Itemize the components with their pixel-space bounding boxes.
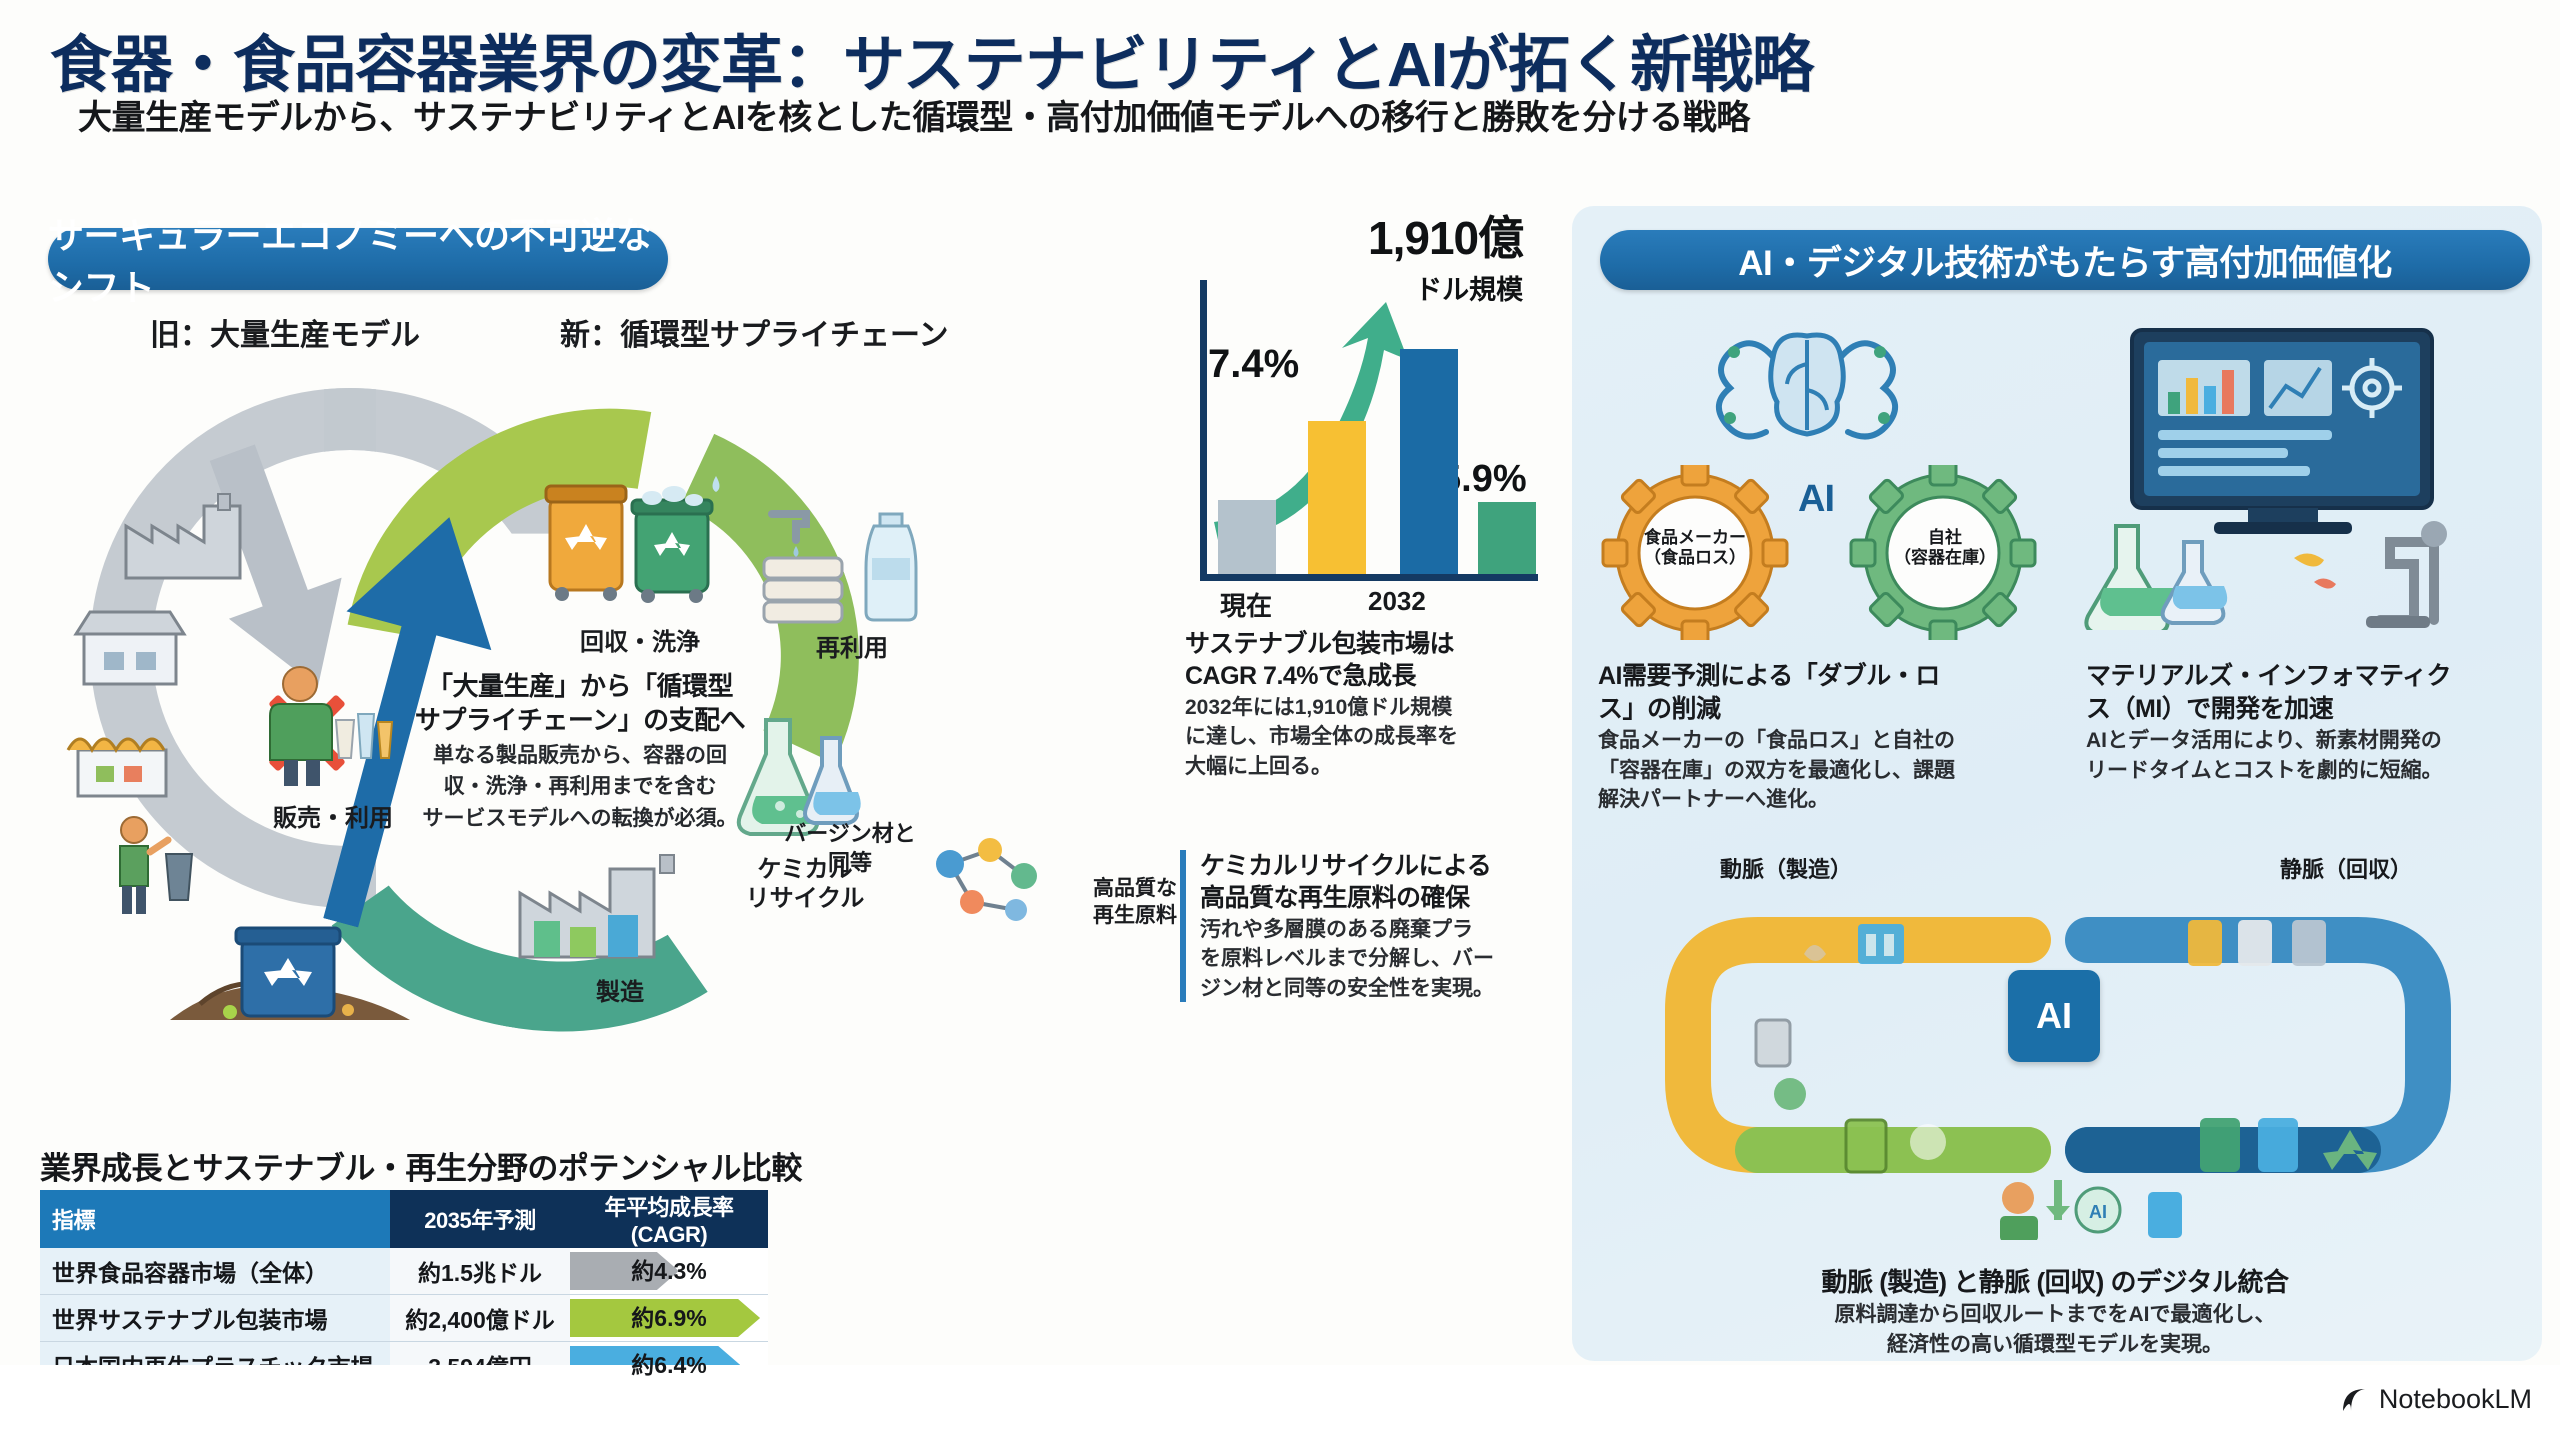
chem-caption-body-3: ジン材と同等の安全性を実現。 [1200,975,1546,1002]
gear-food-maker-line1: 食品メーカー [1644,528,1746,547]
chart-bar-0 [1218,500,1276,574]
ai-demand-forecast-block: AI需要予測による「ダブル・ロ ス」の削減 食品メーカーの「食品ロス」と自社の … [1598,660,2068,814]
notebooklm-logo-icon [2339,1385,2369,1415]
notebooklm-brand-label: NotebookLM [2379,1384,2532,1415]
table-cell-cagr: 約4.3% [570,1248,768,1295]
chem-caption-body-1: 汚れや多層膜のある廃棄プラ [1200,916,1546,943]
old-model-label: 旧：大量生産モデル [150,310,420,354]
cagr-value-label: 約6.9% [570,1295,768,1341]
ai-block-right-body-2: リードタイムとコストを劇的に短縮。 [2086,757,2536,785]
landfill-recycle-bin-icon [170,900,410,1030]
center-heading-line1: 「大量生産」から「循環型 [370,670,790,704]
ai-block-left-body-1: 食品メーカーの「食品ロス」と自社の [1598,727,2068,755]
gear-own-company-line1: 自社 [1928,528,1962,547]
chart-caption-body-3: 大幅に上回る。 [1185,753,1535,780]
chart-xtick-now: 現在 [1220,586,1272,623]
center-heading-line2: サプライチェーン」の支配へ [370,704,790,738]
ai-bottom-body-2: 経済性の高い循環型モデルを実現。 [1600,1331,2510,1359]
brain-ai-icon [1712,318,1902,468]
ai-chip-icon: AI [2008,970,2100,1062]
ai-block-right-heading-1: マテリアルズ・インフォマティク [2086,660,2536,693]
cycle-center-text: 「大量生産」から「循環型 サプライチェーン」の支配へ 単なる製品販売から、容器の… [370,670,790,833]
artery-vein-loop-diagram: AI [1608,880,2508,1245]
table-cell-metric: 世界サステナブル包装市場 [40,1295,390,1342]
recycle-bins-icon [540,468,730,618]
footer-bar: NotebookLM [0,1365,2560,1429]
quality-label-line1: 高品質な [1093,877,1177,900]
ai-chip-label: AI [2036,995,2072,1037]
materials-informatics-icon [2080,320,2500,630]
chart-caption-body-2: に達し、市場全体の成長率を [1185,723,1535,750]
chem-caption-heading-1: ケミカルリサイクルによる [1200,850,1546,882]
ai-bottom-heading: 動脈 (製造) と静脈 (回収) のデジタル統合 [1600,1262,2510,1299]
ai-block-left-body-3: 解決パートナーへ進化。 [1598,786,2068,814]
caption-chemical-recycle-line2: リサイクル [746,885,865,912]
chem-caption-heading-2: 高品質な再生原料の確保 [1200,882,1546,914]
ai-block-left-heading-2: ス」の削減 [1598,693,2068,726]
virgin-label-line2: 同等 [828,850,872,875]
ai-block-right-body-1: AIとデータ活用により、新素材開発の [2086,727,2536,755]
chart-headline: 1,910億 ドル規模 [1368,202,1523,307]
table-col-forecast: 2035年予測 [390,1190,570,1248]
gear-food-maker-line2: （食品ロス） [1644,548,1746,567]
green-factory-icon [510,845,710,965]
gear-own-company-line2: （容器在庫） [1894,548,1996,567]
infographic-canvas: 食器・食品容器業界の変革：サステナビリティとAIが拓く新戦略 大量生産モデルから… [0,0,2560,1429]
chart-annotation-cagr-sustainable: 7.4% [1208,342,1299,387]
chart-caption-body-1: 2032年には1,910億ドル規模 [1185,694,1535,721]
store-icon [70,600,190,690]
virgin-label-line1: バージン材と [784,821,916,846]
virgin-equivalent-label: バージン材と 同等 [740,820,960,877]
ai-bottom-body-1: 原料調達から回収ルートまでをAIで最適化し、 [1600,1301,2510,1329]
market-growth-bar-chart: 7.4% 5.9% 1,910億 ドル規模 現在 2032 [1178,280,1538,620]
table-cell-metric: 世界食品容器市場（全体） [40,1248,390,1295]
chemical-recycling-caption-block: ケミカルリサイクルによる 高品質な再生原料の確保 汚れや多層膜のある廃棄プラ を… [1180,850,1546,1002]
factory-icon [118,488,268,583]
chart-bar-2 [1400,349,1458,574]
chart-headline-unit: ドル規模 [1368,268,1523,307]
gear-label-own-company: 自社 （容器在庫） [1866,528,2024,569]
table-cell-forecast: 約2,400億ドル [390,1295,570,1342]
caption-reuse: 再利用 [782,628,922,663]
center-body-line2: 収・洗浄・再利用までを含む [370,774,790,801]
gear-label-food-maker: 食品メーカー （食品ロス） [1616,528,1774,569]
circular-economy-diagram: 旧：大量生産モデル 新：循環型サプライチェーン [40,300,1150,1130]
new-model-label: 新：循環型サプライチェーン [560,310,949,354]
ai-word-label: AI [1798,478,1834,521]
caption-collect-wash: 回収・洗浄 [560,622,720,657]
quality-label-line2: 再生原料 [1093,904,1177,927]
notebooklm-brand: NotebookLM [2339,1384,2532,1415]
chart-xtick-2032: 2032 [1368,586,1426,617]
section-header-circular-economy: サーキュラーエコノミーへの不可逆なシフト [48,228,668,290]
materials-informatics-block: マテリアルズ・インフォマティク ス（MI）で開発を加速 AIとデータ活用により、… [2086,660,2536,784]
table-title: 業界成長とサステナブル・再生分野のポテンシャル比較 [40,1143,802,1188]
table-header-row: 指標 2035年予測 年平均成長率(CAGR) [40,1190,768,1248]
page-subtitle: 大量生産モデルから、サステナビリティとAIを核とした循環型・高付加価値モデルへの… [78,90,2528,139]
caption-manufacture: 製造 [560,972,680,1007]
chart-x-axis [1200,574,1538,581]
table-row: 世界食品容器市場（全体）約1.5兆ドル約4.3% [40,1248,768,1295]
chart-caption-block: サステナブル包装市場は CAGR 7.4%で急成長 2032年には1,910億ド… [1185,628,1535,780]
reuse-containers-icon [750,480,950,630]
table-row: 世界サステナブル包装市場約2,400億ドル約6.9% [40,1295,768,1342]
table-col-cagr: 年平均成長率(CAGR) [570,1190,768,1248]
comparison-table: 指標 2035年予測 年平均成長率(CAGR) 世界食品容器市場（全体）約1.5… [40,1190,768,1389]
chart-y-axis [1200,280,1207,580]
ai-block-left-heading-1: AI需要予測による「ダブル・ロ [1598,660,2068,693]
chart-caption-heading-2: CAGR 7.4%で急成長 [1185,660,1535,692]
ai-block-right-heading-2: ス（MI）で開発を加速 [2086,693,2536,726]
cagr-value-label: 約6.4% [570,1342,768,1388]
chart-bar-3 [1478,502,1536,574]
chart-bar-1 [1308,421,1366,574]
table-col-metric: 指標 [40,1190,390,1248]
market-stall-icon [62,710,182,805]
center-body-line3: サービスモデルへの転換が必須。 [370,806,790,833]
table-cell-forecast: 約1.5兆ドル [390,1248,570,1295]
table-cell-cagr: 約6.9% [570,1295,768,1342]
chem-caption-body-2: を原料レベルまで分解し、バー [1200,945,1546,972]
digital-integration-block: 動脈 (製造) と静脈 (回収) のデジタル統合 原料調達から回収ルートまでをA… [1600,1262,2510,1358]
svg-text:AI: AI [2089,1202,2107,1222]
center-body-line1: 単なる製品販売から、容器の回 [370,743,790,770]
section-header-ai-digital: AI・デジタル技術がもたらす高付加価値化 [1600,230,2530,290]
ai-block-left-body-2: 「容器在庫」の双方を最適化し、課題 [1598,757,2068,785]
chart-headline-value: 1,910億 [1368,202,1523,268]
chart-caption-heading-1: サステナブル包装市場は [1185,628,1535,660]
cagr-value-label: 約4.3% [570,1248,768,1294]
table-cell-cagr: 約6.4% [570,1342,768,1389]
